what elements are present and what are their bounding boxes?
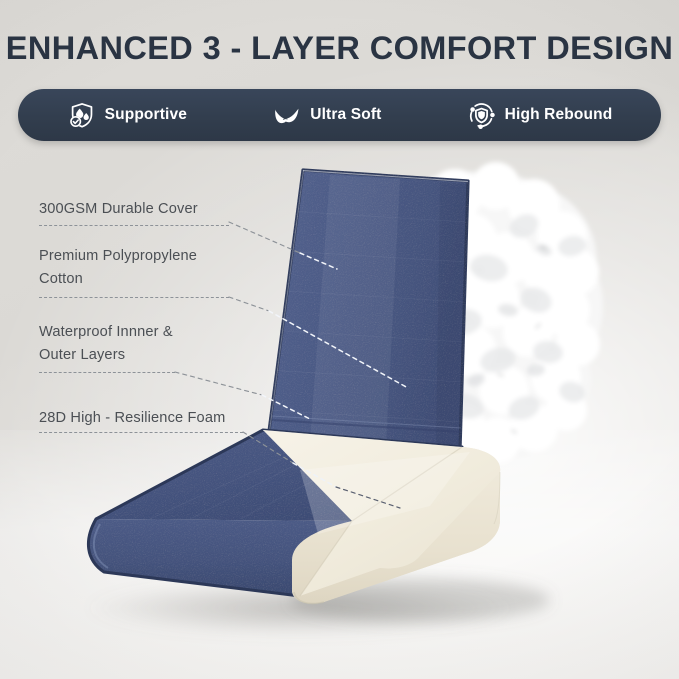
callout-foam-underline xyxy=(39,432,243,433)
product-infographic: ENHANCED 3 - LAYER COMFORT DESIGN Suppor… xyxy=(0,0,679,679)
waterproof-shield-icon xyxy=(67,101,96,130)
page-title: ENHANCED 3 - LAYER COMFORT DESIGN xyxy=(0,28,679,68)
rebound-shield-orbit-icon xyxy=(467,101,496,130)
callout-waterproof-underline xyxy=(39,372,175,373)
callout-cotton-line-1: Premium Polypropylene xyxy=(39,245,197,268)
callout-cotton-line-2: Cotton xyxy=(39,268,197,291)
feather-icon xyxy=(272,101,301,130)
callout-cover-line-1: 300GSM Durable Cover xyxy=(39,198,198,221)
callout-waterproof-line-2: Outer Layers xyxy=(39,344,173,367)
callout-foam-line-1: 28D High - Resilience Foam xyxy=(39,407,225,430)
callout-waterproof-line-1: Waterproof Innner & xyxy=(39,321,173,344)
callout-cotton-underline xyxy=(39,297,229,298)
feature-label-supportive: Supportive xyxy=(105,106,187,124)
callout-waterproof: Waterproof Innner & Outer Layers xyxy=(39,321,173,367)
background-floor xyxy=(0,430,679,679)
feature-ultra-soft[interactable]: Ultra Soft xyxy=(268,101,385,130)
callout-cover-underline xyxy=(39,225,229,226)
feature-supportive[interactable]: Supportive xyxy=(63,101,191,130)
feature-label-ultra-soft: Ultra Soft xyxy=(310,106,381,124)
feature-high-rebound[interactable]: High Rebound xyxy=(463,101,617,130)
callout-cover: 300GSM Durable Cover xyxy=(39,198,198,221)
callout-cotton: Premium Polypropylene Cotton xyxy=(39,245,197,291)
feature-label-high-rebound: High Rebound xyxy=(505,106,613,124)
feature-bar: Supportive Ultra Soft xyxy=(18,89,661,141)
callout-foam: 28D High - Resilience Foam xyxy=(39,407,225,430)
